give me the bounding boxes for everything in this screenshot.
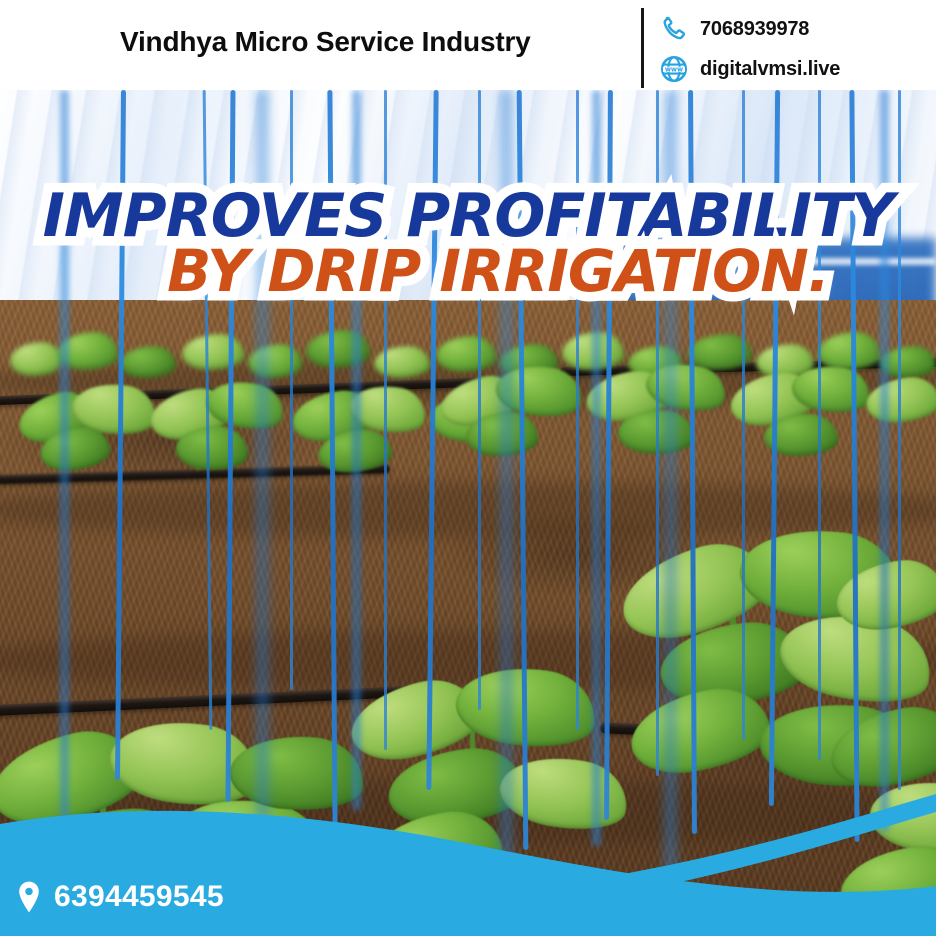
phone-icon [658, 13, 690, 45]
twine-string [290, 90, 293, 690]
footer-phone-number: 6394459545 [54, 880, 224, 914]
globe-www-icon: www [658, 53, 690, 85]
phone-number: 7068939978 [700, 18, 809, 41]
wave-body [0, 811, 936, 936]
twine-string [656, 90, 659, 776]
twine-string-blurred [60, 90, 69, 830]
twine-string [384, 90, 387, 750]
footer-location-row[interactable]: 6394459545 [14, 880, 224, 914]
twine-string [576, 90, 579, 730]
poster-canvas: IMPROVES PROFITABILITY BY DRIP IRRIGATIO… [0, 0, 936, 936]
website-url: digitalvmsi.live [700, 58, 840, 81]
twine-string-blurred [500, 90, 513, 890]
header-bar: Vindhya Micro Service Industry 706893997… [0, 0, 936, 90]
twine-string-blurred [880, 90, 889, 832]
twine-string [478, 90, 481, 710]
header-contact-block: 7068939978 www digitalvmsi.live [658, 12, 928, 92]
contact-phone-row[interactable]: 7068939978 [658, 12, 928, 46]
header-divider [641, 8, 644, 88]
twine-string-blurred [256, 90, 269, 860]
twine-string-blurred [592, 90, 601, 846]
twine-string [898, 90, 901, 790]
page-title: Vindhya Micro Service Industry [120, 26, 531, 58]
location-pin-icon [14, 880, 44, 914]
twine-string [742, 90, 745, 740]
twine-string-blurred [352, 90, 361, 810]
twine-string [818, 90, 821, 760]
twine-string-blurred [664, 90, 677, 876]
svg-text:www: www [665, 65, 683, 73]
contact-website-row[interactable]: www digitalvmsi.live [658, 52, 928, 86]
